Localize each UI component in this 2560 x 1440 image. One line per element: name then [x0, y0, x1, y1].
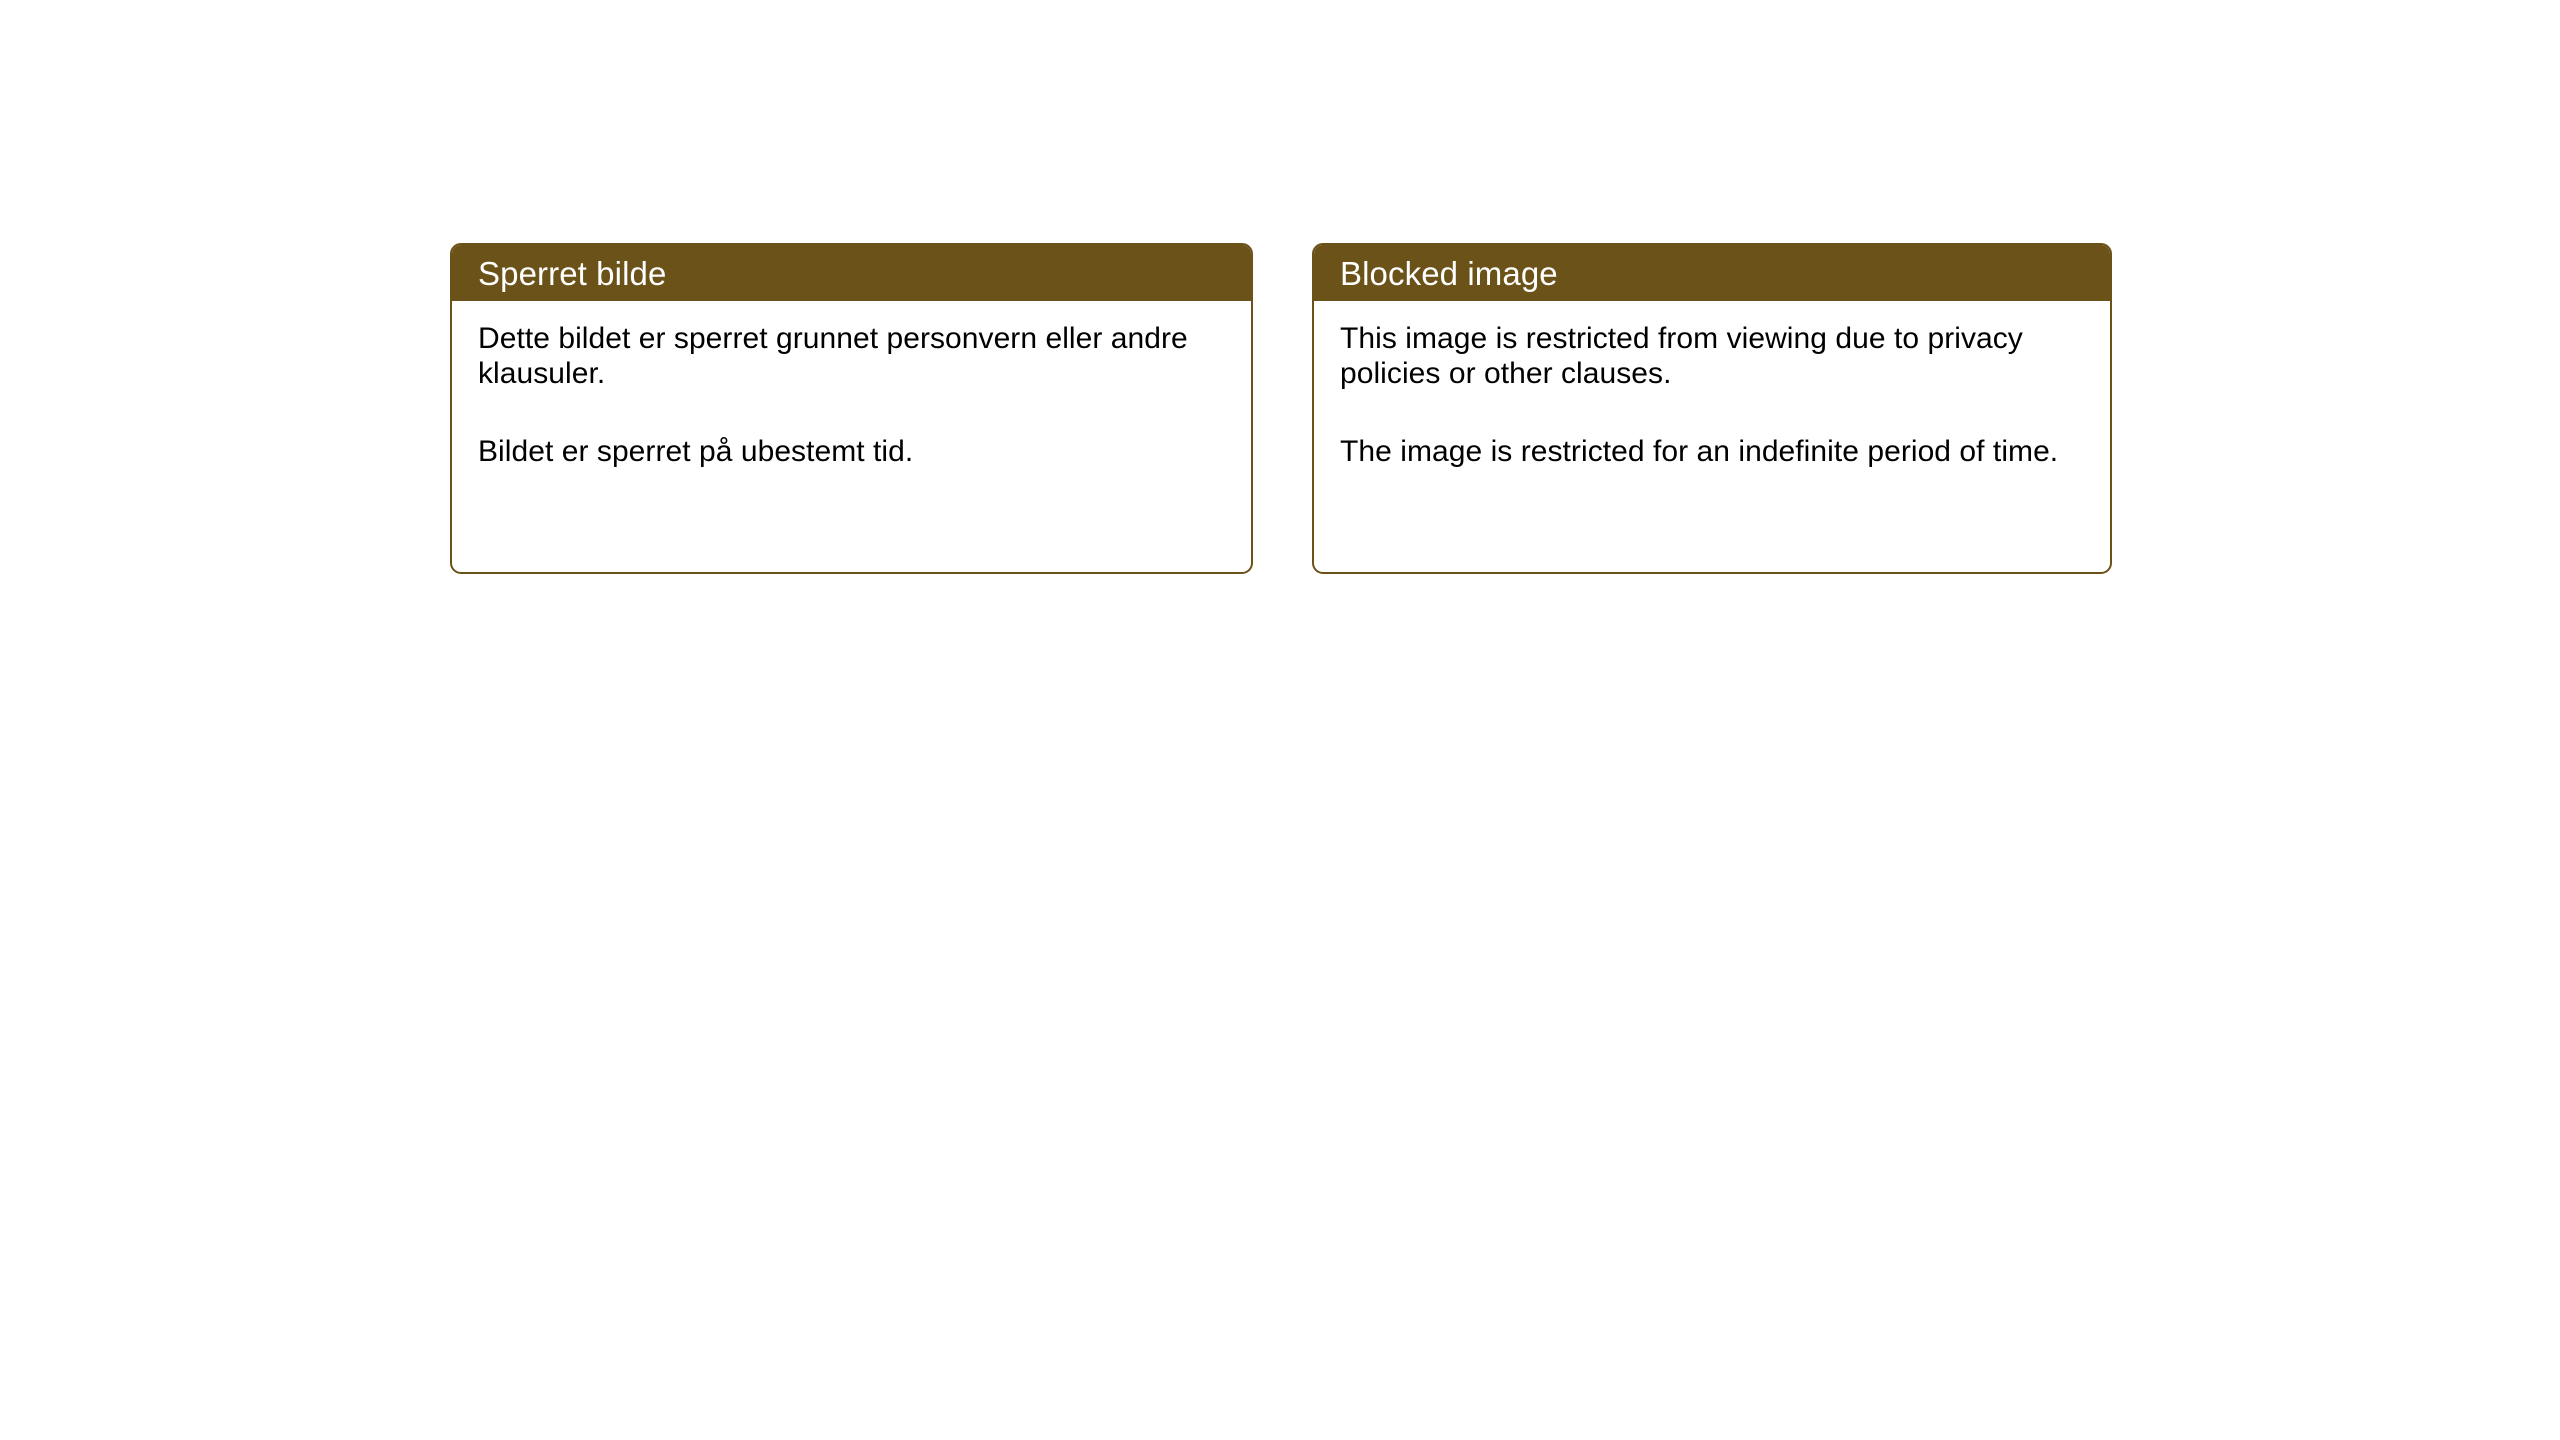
- card-body-english: This image is restricted from viewing du…: [1314, 301, 2110, 469]
- card-paragraph-reason-norwegian: Dette bildet er sperret grunnet personve…: [478, 321, 1225, 391]
- card-header-norwegian: Sperret bilde: [452, 245, 1251, 301]
- blocked-image-notice-card-norwegian: Sperret bilde Dette bildet er sperret gr…: [450, 243, 1253, 574]
- card-title-english: Blocked image: [1340, 257, 1558, 290]
- blocked-image-notice-card-english: Blocked image This image is restricted f…: [1312, 243, 2112, 574]
- card-paragraph-duration-norwegian: Bildet er sperret på ubestemt tid.: [478, 434, 1225, 469]
- card-title-norwegian: Sperret bilde: [478, 257, 666, 290]
- card-header-english: Blocked image: [1314, 245, 2110, 301]
- card-paragraph-reason-english: This image is restricted from viewing du…: [1340, 321, 2084, 391]
- card-paragraph-duration-english: The image is restricted for an indefinit…: [1340, 434, 2084, 469]
- page-canvas: Sperret bilde Dette bildet er sperret gr…: [0, 0, 2560, 1440]
- card-body-norwegian: Dette bildet er sperret grunnet personve…: [452, 301, 1251, 469]
